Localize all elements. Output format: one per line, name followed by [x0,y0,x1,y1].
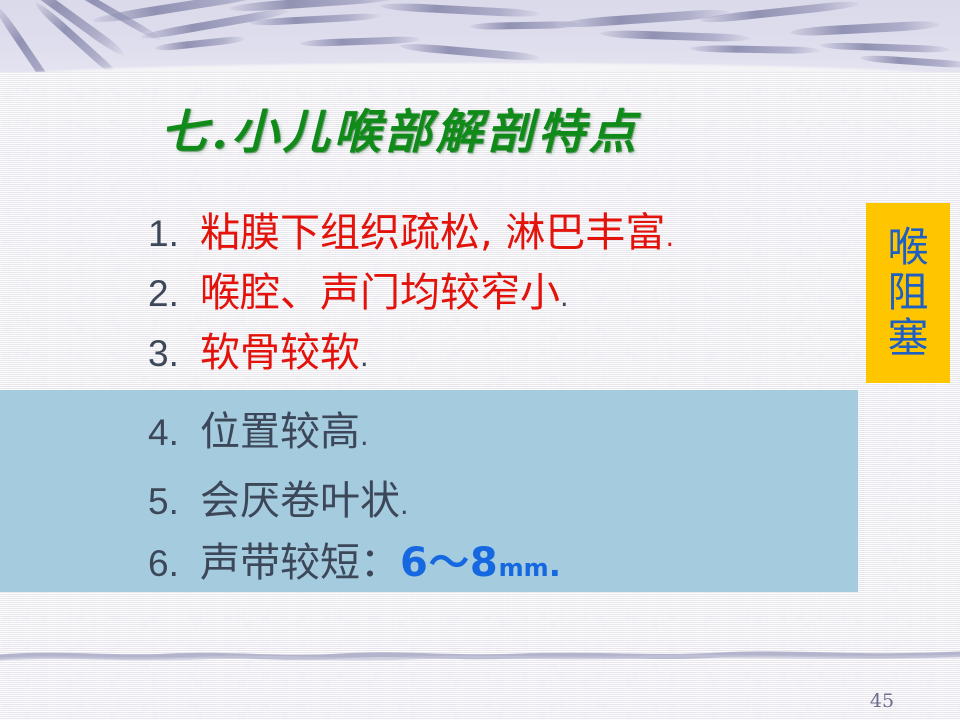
list-item-text: 会厌卷叶状 [200,468,400,526]
list-item: 2. 喉腔、声门均较窄小 . [148,260,569,318]
list-item-number: 2. [148,273,200,315]
brush-stroke [380,2,540,18]
list-item-text: 声带较短： [200,530,400,588]
list-item-number: 5. [148,481,200,523]
list-item-text: 喉腔、声门均较窄小 [200,260,560,318]
list-item: 6. 声带较短： 6～8 mm . [148,530,561,588]
brush-stroke [0,4,67,72]
brush-stroke [600,29,750,42]
slide-title: 七.小儿喉部解剖特点 [0,93,800,162]
list-item: 5. 会厌卷叶状 . [148,468,409,526]
list-item: 4. 位置较高 . [148,399,369,457]
list-item-tail: . [360,342,369,373]
list-item-number: 1. [148,213,200,255]
list-item-text: 位置较高 [200,399,360,457]
list-item: 3. 软骨较软 . [148,320,369,378]
list-item-text: 粘膜下组织疏松, 淋巴丰富 [200,200,665,258]
brush-stroke [400,42,540,62]
vocal-cord-length-unit: mm [499,554,549,582]
brush-stroke [790,20,940,37]
list-item-tail: . [560,282,569,313]
wave-line-icon [0,648,960,664]
brush-stroke [860,54,960,69]
list-item-tail: . [360,421,369,452]
list-item-number: 3. [148,333,200,375]
vocal-cord-length-dot: . [549,546,561,584]
list-item: 1. 粘膜下组织疏松, 淋巴丰富 . [148,200,674,258]
brush-stroke [690,45,820,54]
callout-box-laryngeal-obstruction: 喉 阻 塞 [866,203,950,383]
brush-stroke [230,0,400,13]
brush-stroke [155,35,245,51]
list-item-number: 4. [148,412,200,454]
callout-char: 喉 [888,226,929,269]
brush-stroke [820,42,950,54]
footer-decorative-wave [0,648,960,664]
slide-canvas: 七.小儿喉部解剖特点 1. 粘膜下组织疏松, 淋巴丰富 . 2. 喉腔、声门均较… [0,0,960,720]
list-item-text: 软骨较软 [200,320,360,378]
vocal-cord-length-value: 6～8 [400,530,499,588]
list-item-tail: . [665,222,674,253]
list-item-tail: . [400,490,409,521]
header-decorative-band [0,0,960,72]
list-item-number: 6. [148,543,200,585]
page-number: 45 [862,690,902,712]
callout-char: 塞 [888,317,929,360]
callout-char: 阻 [888,271,929,314]
